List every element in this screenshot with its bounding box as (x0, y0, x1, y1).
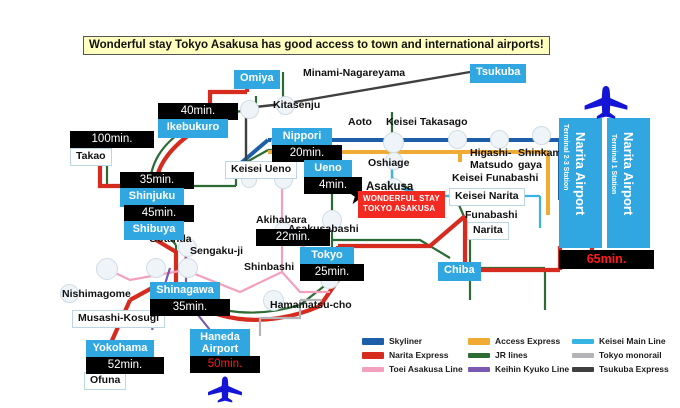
time-ikebukuro: 40min. (158, 103, 238, 120)
label-keisei-ueno: Keisei Ueno (225, 161, 297, 179)
legend-swatch-keihin-kyuko-line (468, 367, 490, 372)
station-yokohama[interactable]: Yokohama (86, 340, 154, 359)
station-dot (178, 258, 198, 278)
station-shinagawa[interactable]: Shinagawa (150, 282, 220, 301)
time-shinjuku: 35min. (120, 172, 194, 189)
station-dot (96, 258, 118, 280)
legend-label-access-express: Access Express (495, 336, 560, 346)
label-kitasenju: Kitasenju (273, 100, 320, 112)
legend-item-tsukuba-express: Tsukuba Express (572, 364, 676, 374)
station-dot (532, 126, 551, 145)
station-ueno[interactable]: Ueno (304, 160, 352, 179)
legend-item-narita-express: Narita Express (362, 350, 468, 360)
label-funabashi: Funabashi (465, 210, 518, 222)
legend-item-keisei-main-line: Keisei Main Line (572, 336, 676, 346)
legend-item-toei-asakusa-line: Toei Asakusa Line (362, 364, 468, 374)
legend-swatch-jr-lines (468, 353, 490, 358)
station-dot (240, 100, 259, 119)
label-oshiage: Oshiage (368, 158, 409, 170)
label-minami-nagareyama: Minami-Nagareyama (303, 68, 405, 80)
time-yokohama: 52min. (86, 357, 164, 374)
marker-line-1: WONDERFUL STAY (363, 194, 440, 203)
legend-label-tsukuba-express: Tsukuba Express (599, 364, 669, 374)
station-omiya[interactable]: Omiya (234, 70, 280, 89)
station-haneda-airport[interactable]: Haneda Airport (190, 329, 250, 359)
legend-label-toei-asakusa-line: Toei Asakusa Line (389, 364, 463, 374)
legend-swatch-keisei-main-line (572, 339, 594, 344)
legend-item-skyliner: Skyliner (362, 336, 468, 346)
station-shibuya[interactable]: Shibuya (124, 221, 184, 240)
legend-label-skyliner: Skyliner (389, 336, 422, 346)
narita-terminal-1-block[interactable]: Terminal 1 Station Narita Airport (607, 118, 650, 248)
airplane-icon-narita (582, 86, 630, 124)
station-dot (146, 258, 166, 278)
station-tsukuba[interactable]: Tsukuba (470, 64, 526, 83)
time-tokyo: 25min. (300, 264, 364, 281)
time-shinagawa: 35min. (150, 299, 230, 316)
station-nippori[interactable]: Nippori (272, 128, 332, 147)
label-keisei-narita: Keisei Narita (449, 188, 525, 206)
legend-swatch-tokyo-monorail (572, 353, 594, 358)
label-takao: Takao (70, 148, 112, 166)
legend-label-tokyo-monorail: Tokyo monorail (599, 350, 662, 360)
label-ofuna: Ofuna (84, 372, 126, 390)
time-narita-airport: 65min. (559, 250, 654, 269)
marker-line-2: TOKYO ASAKUSA (363, 204, 435, 213)
time-haneda-airport: 50min. (190, 356, 260, 373)
legend: Skyliner Access Express Keisei Main Line… (362, 336, 676, 374)
time-takao: 100min. (70, 131, 154, 148)
label-sengaku-ji: Sengaku-ji (190, 246, 243, 258)
narita-t23-title: Narita Airport (573, 132, 588, 215)
label-nishimagome: Nishimagome (62, 289, 131, 301)
label-aoto: Aoto (348, 117, 372, 129)
label-keisei-funabashi: Keisei Funabashi (452, 173, 538, 185)
station-chiba[interactable]: Chiba (438, 262, 481, 281)
station-tokyo[interactable]: Tokyo (300, 247, 354, 266)
narita-airport-group[interactable]: Terminal 2-3 Station Narita Airport Term… (559, 118, 654, 248)
page-title: Wonderful stay Tokyo Asakusa has good ac… (83, 36, 550, 55)
label-shinbashi: Shinbashi (244, 262, 294, 274)
airplane-icon-haneda (206, 376, 244, 408)
label-akihabara: Akihabara (256, 215, 307, 227)
legend-swatch-skyliner (362, 338, 384, 345)
station-dot (383, 132, 404, 153)
legend-label-narita-express: Narita Express (389, 350, 449, 360)
station-ikebukuro[interactable]: Ikebukuro (158, 119, 228, 138)
narita-t23-sub: Terminal 2-3 Station (562, 124, 569, 190)
legend-label-keisei-main-line: Keisei Main Line (599, 336, 666, 346)
legend-item-jr-lines: JR lines (468, 350, 572, 360)
legend-item-keihin-kyuko-line: Keihin Kyuko Line (468, 364, 572, 374)
label-narita: Narita (467, 222, 509, 240)
time-shibuya: 45min. (124, 205, 194, 222)
station-shinjuku[interactable]: Shinjuku (120, 188, 184, 207)
legend-item-tokyo-monorail: Tokyo monorail (572, 350, 676, 360)
haneda-line1: Haneda (200, 331, 240, 343)
label-hamamatsu-cho: Hamamatsu-cho (270, 300, 352, 312)
narita-terminal-2-3-block[interactable]: Terminal 2-3 Station Narita Airport (559, 118, 602, 248)
time-akihabara: 22min. (256, 229, 330, 246)
legend-swatch-narita-express (362, 352, 384, 359)
transit-access-map: Wonderful stay Tokyo Asakusa has good ac… (0, 0, 680, 408)
legend-swatch-tsukuba-express (572, 367, 594, 372)
wonderful-stay-marker[interactable]: WONDERFUL STAY TOKYO ASAKUSA (358, 191, 445, 218)
label-keisei-takasago: Keisei Takasago (386, 117, 468, 129)
legend-item-access-express: Access Express (468, 336, 572, 346)
haneda-line2: Airport (202, 343, 239, 355)
legend-swatch-access-express (468, 338, 490, 345)
narita-t1-title: Narita Airport (621, 132, 636, 215)
legend-swatch-toei-asakusa-line (362, 367, 384, 372)
label-higashi-matsudo: Higashi-Matsudo (470, 148, 516, 171)
legend-label-jr-lines: JR lines (495, 350, 528, 360)
narita-t1-sub: Terminal 1 Station (610, 134, 617, 194)
station-dot (448, 130, 467, 149)
legend-label-keihin-kyuko-line: Keihin Kyuko Line (495, 364, 569, 374)
